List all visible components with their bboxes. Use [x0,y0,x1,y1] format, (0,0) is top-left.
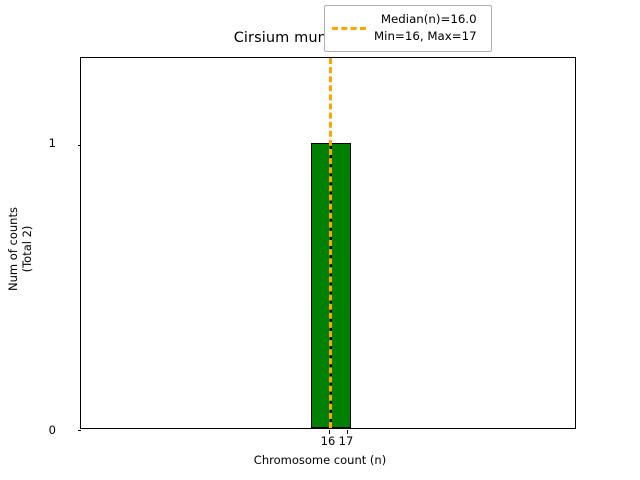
y-tick-mark-0 [78,430,82,431]
legend-entry-labels: Median(n)=16.0 Min=16, Max=17 [374,11,477,45]
y-axis-label-line1: Num of counts [6,79,20,419]
y-tick-label-0: 0 [49,423,56,437]
x-tick-label-17: 17 [339,434,354,448]
dashed-line-icon [332,27,366,30]
y-axis-label: Num of counts (Total 2) [6,79,34,419]
x-tick-mark-17 [347,430,348,434]
x-tick-label-16: 16 [321,434,336,448]
plot-area [80,57,576,429]
x-axis-label: Chromosome count (n) [0,453,640,467]
page-title: Cirsium munitum Fisch. [0,30,640,46]
y-tick-mark-1 [78,145,82,146]
bar-16 [311,143,331,428]
legend-label-minmax: Min=16, Max=17 [374,28,477,45]
legend-entry-median: Median(n)=16.0 Min=16, Max=17 [332,11,484,45]
median-line [329,58,332,428]
legend-label-median: Median(n)=16.0 [381,11,477,28]
x-tick-mark-16 [329,430,330,434]
legend: Median(n)=16.0 Min=16, Max=17 [324,5,492,52]
chart-figure: Cirsium munitum Fisch. Num of counts (To… [0,0,640,480]
bar-17 [331,143,351,428]
y-axis-label-line2: (Total 2) [20,79,34,419]
y-axis-label-wrap: Num of counts (Total 2) [0,0,30,480]
y-tick-label-1: 1 [49,136,56,150]
